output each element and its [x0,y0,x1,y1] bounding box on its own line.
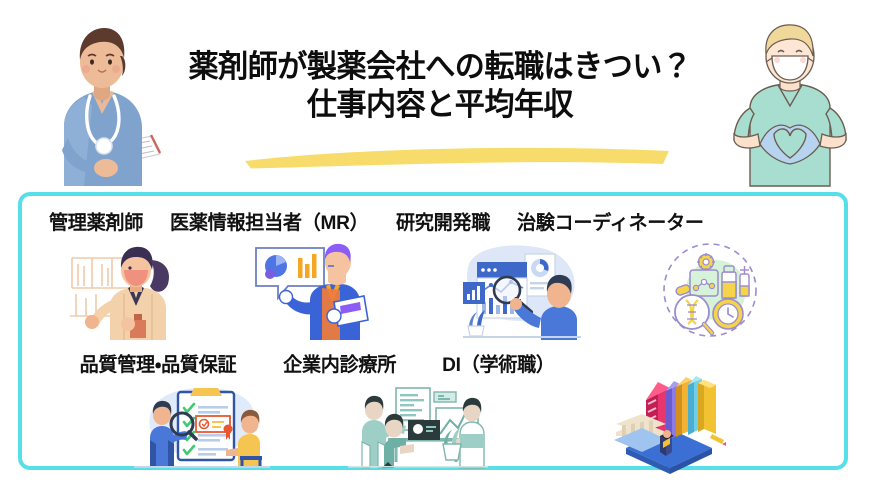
mr-presenting-chart-icon [248,240,372,340]
masked-nurse-heart-hands-illustration [714,22,866,186]
poster-canvas: 薬剤師が製薬会社への転職はきつい？ 仕事内容と平均年収 [0,0,880,500]
job-label-hinshitsu-kanri: 品質管理・品質保証 [80,348,237,377]
header-section: 薬剤師が製薬会社への転職はきつい？ 仕事内容と平均年収 [0,0,880,186]
job-row-2-labels: 品質管理・品質保証 企業内診療所 DI（学術職） [78,348,556,377]
job-label-kanri-yakuzaishi: 管理薬剤師 [49,206,143,235]
title-line-2: 仕事内容と平均年収 [168,86,711,124]
research-dashboard-magnifier-icon [455,240,587,340]
page-title: 薬剤師が製薬会社への転職はきつい？ 仕事内容と平均年収 [160,48,720,124]
books-library-icon [608,378,732,470]
job-label-mr: 医薬情報担当者（MR） [170,206,368,235]
title-line-1: 薬剤師が製薬会社への転職はきつい？ [168,48,711,86]
nurse-with-clipboard-illustration [34,18,170,186]
office-clinic-team-icon [348,382,488,468]
yellow-highlight-stroke [243,145,671,169]
job-label-kenkyu-kaihatsu: 研究開発職 [396,206,490,235]
job-label-chiken-coordinator: 治験コーディネーター [516,206,703,235]
checklist-clipboard-icon [134,382,270,468]
pharmacist-in-labcoat-icon [62,242,182,340]
clinical-trial-badge-icon [654,238,766,342]
job-label-di-gakujutsu: DI（学術職） [442,348,555,377]
job-row-1-labels: 管理薬剤師 医薬情報担当者（MR） 研究開発職 治験コーディネーター [48,206,705,235]
job-label-kigyonai-shinryojo: 企業内診療所 [283,348,396,377]
